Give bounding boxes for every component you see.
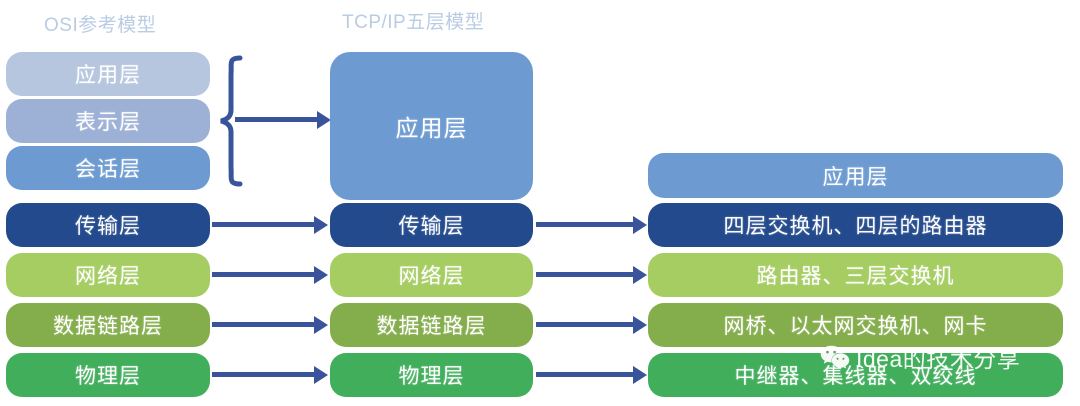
osi-layer-application-label: 应用层	[75, 59, 141, 89]
osi-layer-presentation-label: 表示层	[75, 106, 141, 136]
devices-layer-application-label: 应用层	[823, 161, 889, 191]
osi-layer-network: 网络层	[6, 253, 210, 297]
tcpip-layer-physical-label: 物理层	[399, 360, 465, 390]
tcpip-layer-application-label: 应用层	[396, 109, 468, 143]
tcpip-layer-datalink: 数据链路层	[330, 303, 533, 347]
devices-layer-network: 路由器、三层交换机	[648, 253, 1063, 297]
devices-layer-datalink-label: 网桥、以太网交换机、网卡	[724, 310, 988, 340]
arrow-osi-physical-to-tcpip-physical	[212, 372, 315, 377]
arrow-tcpip-network-to-devices-network	[536, 272, 634, 277]
osi-layer-transport: 传输层	[6, 203, 210, 247]
devices-layer-physical-label: 中继器、集线器、双绞线	[735, 360, 977, 390]
osi-layer-physical: 物理层	[6, 353, 210, 397]
tcpip-layer-application: 应用层	[330, 52, 533, 200]
arrow-osi-datalink-to-tcpip-datalink	[212, 322, 315, 327]
devices-layer-physical: 中继器、集线器、双绞线	[648, 353, 1063, 397]
devices-layer-application: 应用层	[648, 153, 1063, 198]
tcpip-layer-network-label: 网络层	[399, 260, 465, 290]
tcpip-layer-transport-label: 传输层	[399, 210, 465, 240]
osi-layer-application: 应用层	[6, 52, 210, 96]
osi-tcpip-layer-diagram: OSI参考模型 TCP/IP五层模型 应用层 表示层 会话层 传输层 网络层 数…	[0, 0, 1080, 406]
devices-layer-network-label: 路由器、三层交换机	[757, 260, 955, 290]
osi-layer-datalink-label: 数据链路层	[53, 310, 163, 340]
devices-layer-datalink: 网桥、以太网交换机、网卡	[648, 303, 1063, 347]
arrow-tcpip-physical-to-devices-physical	[536, 372, 634, 377]
arrow-osi-transport-to-tcpip-transport	[212, 222, 315, 227]
tcpip-layer-transport: 传输层	[330, 203, 533, 247]
osi-layer-physical-label: 物理层	[75, 360, 141, 390]
brace-icon	[210, 52, 330, 192]
osi-layer-transport-label: 传输层	[75, 210, 141, 240]
arrow-osi-upper-to-tcpip-application	[235, 117, 318, 122]
osi-layer-session: 会话层	[6, 146, 210, 190]
devices-layer-transport: 四层交换机、四层的路由器	[648, 203, 1063, 247]
devices-layer-transport-label: 四层交换机、四层的路由器	[724, 210, 988, 240]
osi-layer-presentation: 表示层	[6, 99, 210, 143]
tcpip-layer-network: 网络层	[330, 253, 533, 297]
arrow-tcpip-transport-to-devices-transport	[536, 222, 634, 227]
arrow-osi-network-to-tcpip-network	[212, 272, 315, 277]
column-title-tcpip: TCP/IP五层模型	[342, 7, 484, 34]
osi-layer-network-label: 网络层	[75, 260, 141, 290]
arrow-tcpip-datalink-to-devices-datalink	[536, 322, 634, 327]
osi-layer-session-label: 会话层	[75, 153, 141, 183]
osi-layer-datalink: 数据链路层	[6, 303, 210, 347]
tcpip-layer-physical: 物理层	[330, 353, 533, 397]
column-title-osi: OSI参考模型	[44, 10, 156, 37]
tcpip-layer-datalink-label: 数据链路层	[377, 310, 487, 340]
